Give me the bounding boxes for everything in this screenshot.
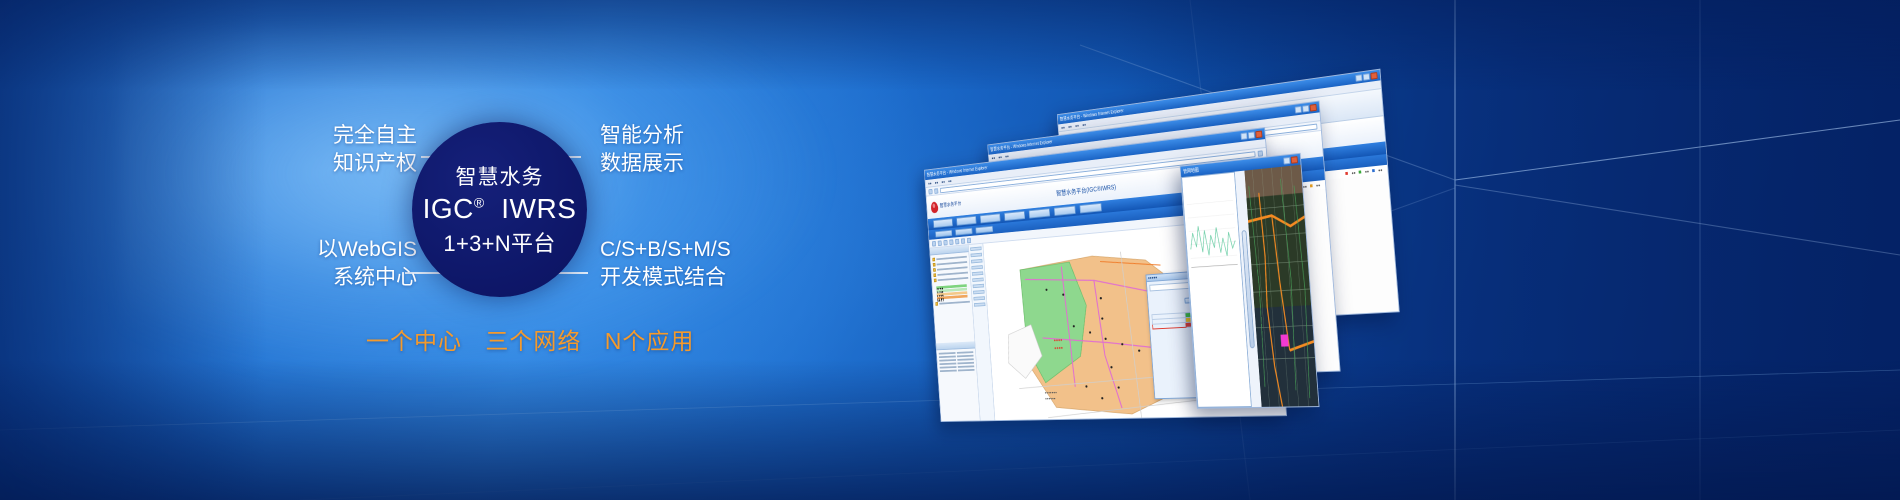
feature-independent-ip: 完全自主 知识产权 [307,122,417,179]
maximize-icon[interactable] [1248,131,1255,139]
feature-webgis-core: 以WebGIS 系统中心 [286,236,417,293]
tagline-item-2: 三个网络 [485,328,581,354]
tool-icon[interactable] [971,265,982,269]
feature-line2: 数据展示 [600,150,684,178]
nav-item[interactable] [1080,203,1102,214]
tagline-item-1: 一个中心 [366,328,462,354]
tool-icon[interactable] [970,246,981,251]
legend-swatch [1359,170,1362,173]
select-icon[interactable] [949,239,953,245]
forward-icon[interactable] [934,188,938,194]
svg-text:●●●●: ●●●● [1053,337,1062,342]
legend-swatches [934,281,970,302]
minimize-icon[interactable] [1241,132,1248,140]
menu-edit[interactable]: ●● [1068,124,1072,129]
go-icon[interactable] [1258,150,1263,156]
window-buttons[interactable] [1283,156,1298,164]
close-icon[interactable] [1370,72,1377,80]
feature-line1: 智能分析 [600,124,684,147]
feature-line1: 以WebGIS [317,238,417,261]
pan-icon[interactable] [932,241,936,247]
legend-swatch [1346,172,1349,175]
app-logo: 智慧水务平台 [931,198,962,213]
menu-file[interactable]: ●● [991,155,995,160]
registered-mark: ® [474,195,485,211]
tool-icon[interactable] [973,284,985,288]
brand-product-code: IGC® IWRS [423,193,577,224]
tagline-item-3: N个应用 [605,328,695,354]
attr-row [940,369,975,372]
folder-icon [933,273,936,277]
menu-view[interactable]: ●● [941,179,945,184]
close-icon[interactable] [1291,156,1298,164]
menu-view[interactable]: ●● [1005,154,1009,159]
feature-line2: 知识产权 [307,150,417,178]
menu-edit[interactable]: ●● [998,154,1002,159]
satellite-body [1181,165,1318,408]
nav-item[interactable] [980,213,1001,223]
legend-label: ●● [1351,170,1355,175]
feature-line2: 开发模式结合 [600,264,731,292]
nav-item[interactable] [1004,211,1025,221]
menu-tools[interactable]: ●● [1082,122,1086,127]
folder-icon [933,263,936,267]
svg-text:●●●●●●: ●●●●●● [1045,397,1056,401]
brand-iwrs: IWRS [501,193,576,224]
feature-line1: 完全自主 [333,124,417,147]
folder-icon [934,279,937,283]
menu-favorites[interactable]: ●● [948,178,952,183]
tool-icon[interactable] [972,278,984,282]
menu-view[interactable]: ●● [1075,123,1079,128]
tagline: 一个中心 三个网络 N个应用 [366,322,694,356]
identify-icon[interactable] [961,238,965,244]
nav-item[interactable] [1054,206,1076,216]
subnav-item[interactable] [955,228,972,236]
screenshot-stack: 智慧水务平台 - Windows Internet Explorer ●● ●●… [760,20,1500,480]
attr-row [939,362,974,365]
logo-text: 智慧水务平台 [940,201,962,209]
nav-item[interactable] [1029,208,1050,218]
folder-icon [932,258,935,262]
close-icon[interactable] [1310,104,1317,112]
minimize-icon[interactable] [1295,106,1302,114]
print-icon[interactable] [967,237,971,243]
legend-label: ●● [1316,182,1320,187]
tool-icon[interactable] [972,271,984,275]
legend-label: ●● [1378,167,1383,172]
nav-item[interactable] [956,216,976,226]
zoom-in-icon[interactable] [938,240,942,246]
attr-row [940,365,975,368]
folder-icon [933,268,936,272]
subnav-item[interactable] [935,230,952,238]
tool-icon[interactable] [971,259,982,263]
measure-icon[interactable] [955,238,959,244]
svg-text:●●●●: ●●●● [1054,345,1063,350]
minimize-icon[interactable] [1355,74,1362,82]
back-icon[interactable] [928,188,932,194]
brand-platform: 1+3+N平台 [443,226,555,258]
menu-file[interactable]: ●● [928,181,932,186]
banner-stage: 智慧水务平台 - Windows Internet Explorer ●● ●●… [0,0,1900,500]
feature-dev-modes: C/S+B/S+M/S 开发模式结合 [600,236,731,293]
subnav-item[interactable] [975,226,993,234]
legend-swatch [1372,169,1375,172]
legend-swatch [1310,184,1313,187]
water-drop-icon [930,200,939,213]
feature-line2: 系统中心 [286,264,417,292]
tool-icon[interactable] [971,253,982,258]
folder-icon [935,302,938,306]
menu-file[interactable]: ●● [1061,125,1065,130]
tool-icon[interactable] [973,296,985,300]
zoom-out-icon[interactable] [943,239,947,245]
brand-circle: 智慧水务 IGC® IWRS 1+3+N平台 [412,122,587,297]
tool-icon[interactable] [973,290,985,294]
maximize-icon[interactable] [1363,73,1370,81]
maximize-icon[interactable] [1302,105,1309,113]
app-title: 智慧水务平台(IGC®IWRS) [1056,183,1116,199]
minimize-icon[interactable] [1283,157,1290,165]
attribute-panel [937,348,981,422]
svg-text:●●●●●●●: ●●●●●●● [1045,391,1057,395]
brand-cn-name: 智慧水务 [456,161,544,191]
feature-smart-analysis: 智能分析 数据展示 [600,122,684,179]
legend-label: ●● [1365,169,1369,174]
nav-item[interactable] [933,218,953,228]
layer-tree[interactable] [930,252,974,343]
tool-icon[interactable] [974,302,986,306]
window-buttons[interactable] [1241,130,1263,140]
window-satellite[interactable]: 管网地图 [1180,153,1320,409]
menu-edit[interactable]: ●● [935,180,939,185]
brand-igc: IGC [423,193,474,224]
close-icon[interactable] [1255,130,1262,138]
feature-line1: C/S+B/S+M/S [600,238,731,261]
